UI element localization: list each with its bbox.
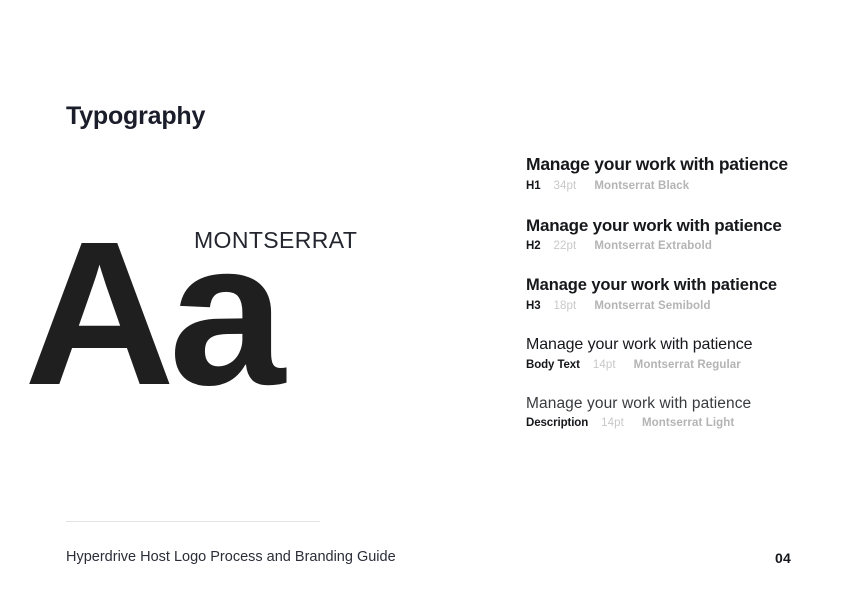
type-sample-text: Manage your work with patience: [526, 154, 836, 176]
font-specimen: MONTSERRAT Aa: [0, 215, 460, 415]
type-meta-size: 14pt: [601, 417, 624, 429]
type-meta-font: Montserrat Light: [642, 417, 734, 429]
type-meta-font: Montserrat Black: [594, 180, 689, 192]
type-meta-size: 14pt: [593, 359, 616, 371]
page-title: Typography: [66, 103, 205, 131]
type-scale-row-h3: Manage your work with patience H3 18pt M…: [526, 275, 836, 312]
typography-page: Typography MONTSERRAT Aa Manage your wor…: [0, 0, 859, 612]
type-meta: Body Text 14pt Montserrat Regular: [526, 359, 836, 371]
type-meta: H1 34pt Montserrat Black: [526, 180, 836, 192]
type-scale-row-h2: Manage your work with patience H2 22pt M…: [526, 215, 836, 252]
footer-divider: [66, 521, 320, 522]
type-meta-label: H1: [526, 180, 541, 192]
type-scale-list: Manage your work with patience H1 34pt M…: [526, 154, 836, 429]
type-meta: Description 14pt Montserrat Light: [526, 417, 836, 429]
type-scale-row-body: Manage your work with patience Body Text…: [526, 335, 836, 371]
type-meta: H3 18pt Montserrat Semibold: [526, 300, 836, 312]
footer-page-number: 04: [775, 550, 791, 566]
type-scale-row-description: Manage your work with patience Descripti…: [526, 394, 836, 429]
type-meta-size: 22pt: [554, 240, 577, 252]
type-meta-label: Body Text: [526, 359, 580, 371]
type-meta-font: Montserrat Extrabold: [594, 240, 712, 252]
type-sample-text: Manage your work with patience: [526, 394, 836, 413]
type-sample-text: Manage your work with patience: [526, 215, 836, 236]
type-meta: H2 22pt Montserrat Extrabold: [526, 240, 836, 252]
type-scale-row-h1: Manage your work with patience H1 34pt M…: [526, 154, 836, 192]
type-sample-text: Manage your work with patience: [526, 275, 836, 296]
type-meta-label: H2: [526, 240, 541, 252]
type-meta-font: Montserrat Regular: [634, 359, 741, 371]
type-meta-font: Montserrat Semibold: [594, 300, 710, 312]
type-meta-label: H3: [526, 300, 541, 312]
type-meta-label: Description: [526, 417, 588, 429]
type-meta-size: 18pt: [554, 300, 577, 312]
type-sample-text: Manage your work with patience: [526, 335, 836, 355]
specimen-glyph-aa: Aa: [24, 211, 279, 416]
type-meta-size: 34pt: [554, 180, 577, 192]
footer-caption: Hyperdrive Host Logo Process and Brandin…: [66, 549, 396, 565]
